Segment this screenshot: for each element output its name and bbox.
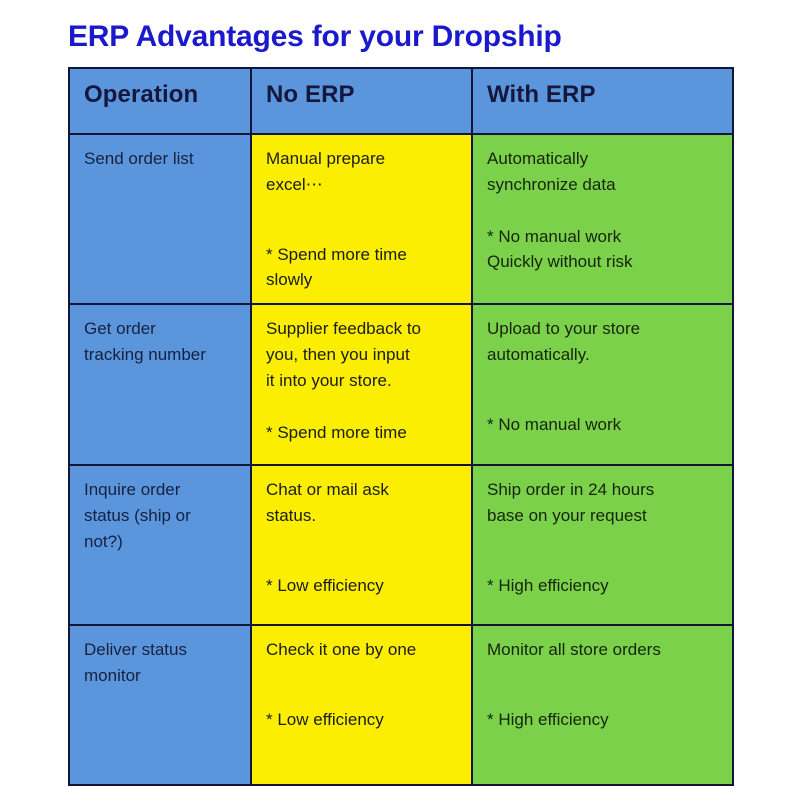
operation-text: Inquire order status (ship or not?) <box>84 477 236 554</box>
table-row: Inquire order status (ship or not?) Chat… <box>69 465 733 625</box>
operation-text: Send order list <box>84 146 236 172</box>
with-erp-description: Ship order in 24 hours base on your requ… <box>487 477 718 529</box>
table-row: Get order tracking number Supplier feedb… <box>69 304 733 465</box>
with-erp-note: * High efficiency <box>487 573 718 599</box>
table-header-row: Operation No ERP With ERP <box>69 68 733 134</box>
cell-no-erp: Chat or mail ask status. * Low efficienc… <box>251 465 472 625</box>
no-erp-description: Check it one by one <box>266 637 457 663</box>
cell-with-erp: Upload to your store automatically. * No… <box>472 304 733 465</box>
cell-no-erp: Manual prepare excel⋯ * Spend more time … <box>251 134 472 304</box>
column-header-operation: Operation <box>69 68 251 134</box>
no-erp-note: * Spend more time slowly <box>266 242 457 294</box>
operation-text: Get order tracking number <box>84 316 236 368</box>
with-erp-note: * No manual work Quickly without risk <box>487 224 718 276</box>
no-erp-description: Chat or mail ask status. <box>266 477 457 529</box>
operation-text: Deliver status monitor <box>84 637 236 689</box>
column-header-no-erp: No ERP <box>251 68 472 134</box>
with-erp-note: * High efficiency <box>487 707 718 733</box>
no-erp-description: Manual prepare excel⋯ <box>266 146 457 198</box>
no-erp-description: Supplier feedback to you, then you input… <box>266 316 457 393</box>
cell-operation: Get order tracking number <box>69 304 251 465</box>
no-erp-note: * Low efficiency <box>266 707 457 733</box>
with-erp-description: Automatically synchronize data <box>487 146 718 198</box>
table-row: Deliver status monitor Check it one by o… <box>69 625 733 785</box>
cell-operation: Inquire order status (ship or not?) <box>69 465 251 625</box>
with-erp-description: Upload to your store automatically. <box>487 316 718 368</box>
cell-operation: Send order list <box>69 134 251 304</box>
erp-comparison-table: Operation No ERP With ERP Send order lis… <box>68 67 734 786</box>
cell-with-erp: Ship order in 24 hours base on your requ… <box>472 465 733 625</box>
table-body: Send order list Manual prepare excel⋯ * … <box>69 134 733 785</box>
no-erp-note: * Low efficiency <box>266 573 457 599</box>
with-erp-description: Monitor all store orders <box>487 637 718 663</box>
table-header: Operation No ERP With ERP <box>69 68 733 134</box>
page-title: ERP Advantages for your Dropship <box>68 20 562 53</box>
cell-no-erp: Check it one by one * Low efficiency <box>251 625 472 785</box>
table-row: Send order list Manual prepare excel⋯ * … <box>69 134 733 304</box>
cell-no-erp: Supplier feedback to you, then you input… <box>251 304 472 465</box>
column-header-with-erp: With ERP <box>472 68 733 134</box>
cell-with-erp: Monitor all store orders * High efficien… <box>472 625 733 785</box>
no-erp-note: * Spend more time <box>266 420 457 446</box>
with-erp-note: * No manual work <box>487 412 718 438</box>
slide-canvas: ERP Advantages for your Dropship Operati… <box>0 0 800 800</box>
cell-operation: Deliver status monitor <box>69 625 251 785</box>
cell-with-erp: Automatically synchronize data * No manu… <box>472 134 733 304</box>
